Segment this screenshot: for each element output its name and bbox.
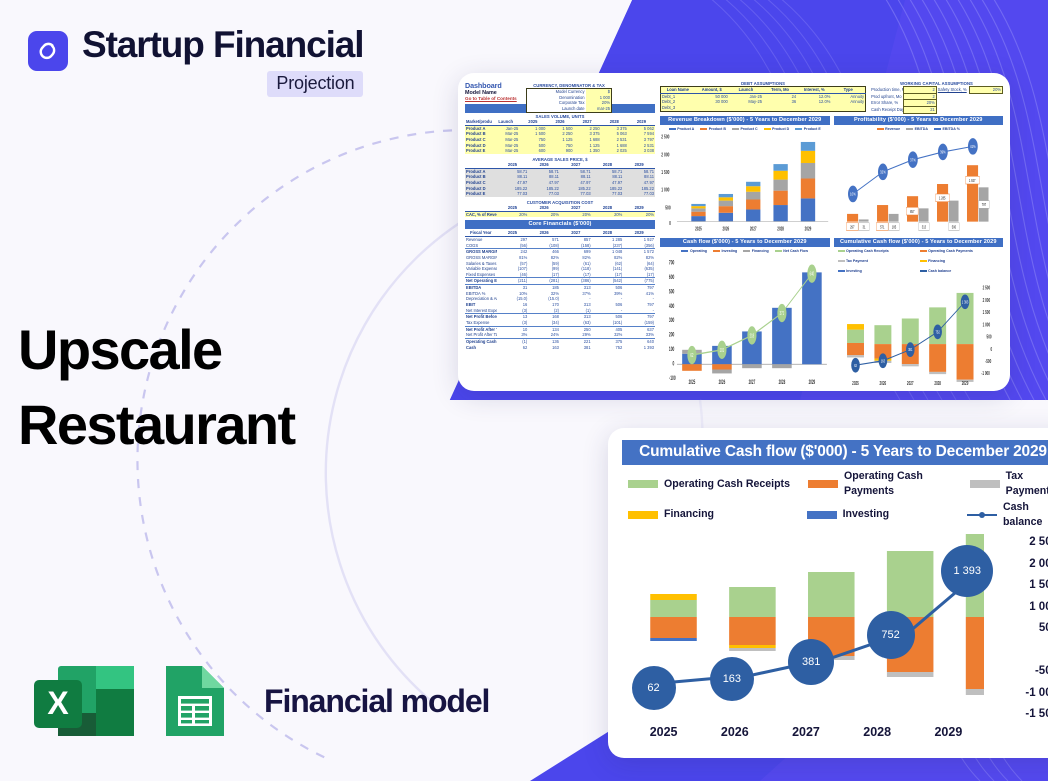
- svg-text:2029: 2029: [809, 379, 816, 385]
- svg-text:2 000: 2 000: [661, 151, 669, 157]
- svg-text:X: X: [47, 685, 69, 721]
- data-point-2027: 381: [788, 639, 834, 685]
- table-row: CAC, % of Revenue20%20%20%20%20%: [465, 211, 655, 217]
- svg-text:0: 0: [990, 346, 992, 352]
- working-capital-table: Production time, Mo 2 Safety Stock, % 20…: [870, 86, 1003, 114]
- cashflow-series-svg: [628, 534, 984, 717]
- x-tick-label: 2029: [913, 725, 984, 739]
- headline-line-2: Restaurant: [18, 387, 295, 462]
- cashflow-y-axis: 2 5002 0001 5001 0005000-500-1 000-1 500: [986, 534, 1048, 717]
- data-point-2028: 752: [867, 611, 915, 659]
- table-row: Prod upfront, Mo 2: [870, 93, 1002, 100]
- currency-assumptions-block: CURRENCY, DENOMINATOR & TAX Model Curren…: [526, 83, 612, 113]
- x-tick-label: 2028: [842, 725, 913, 739]
- format-badges: X Financial model: [30, 660, 489, 742]
- currency-table: Model Currency$ Denomination1 000 Corpor…: [526, 88, 612, 113]
- svg-text:185: 185: [891, 224, 895, 229]
- format-label: Financial model: [264, 683, 489, 720]
- svg-text:571: 571: [880, 224, 884, 229]
- revenue-breakdown-chart[interactable]: Revenue Breakdown ($'000) - 5 Years to D…: [660, 116, 830, 234]
- headline-line-1: Upscale: [18, 312, 295, 387]
- svg-text:-1 000: -1 000: [981, 370, 990, 376]
- svg-text:1 500: 1 500: [982, 309, 990, 315]
- svg-text:600: 600: [669, 274, 675, 282]
- brand-subtitle: Projection: [267, 71, 363, 97]
- svg-text:10%: 10%: [850, 191, 856, 197]
- svg-text:1 393: 1 393: [961, 299, 967, 304]
- svg-text:39%: 39%: [940, 149, 946, 155]
- dashboard-inputs-column: Dashboard Model Name Go to Table of Cont…: [465, 81, 655, 385]
- table-row: Production time, Mo 2 Safety Stock, % 20…: [870, 87, 1002, 94]
- svg-text:218: 218: [750, 332, 755, 338]
- svg-text:62: 62: [854, 363, 857, 368]
- svg-text:200: 200: [669, 331, 675, 339]
- chart-title: Cash flow ($'000) - 5 Years to December …: [660, 238, 830, 247]
- data-point-2025: 62: [632, 666, 676, 710]
- svg-text:297: 297: [850, 224, 854, 229]
- y-tick-label: 1 500: [1029, 579, 1048, 591]
- svg-text:2028: 2028: [934, 380, 941, 385]
- table-row: Cash621633817521 393: [465, 345, 655, 351]
- svg-text:797: 797: [981, 202, 985, 207]
- core-financials-table: Fiscal Year 2025 2026 2027 2028 2029 Rev…: [465, 230, 655, 350]
- col-header: Loan Name: [661, 87, 695, 94]
- col-header: Launch: [729, 87, 763, 94]
- y-tick-label: -1 000: [1025, 687, 1048, 699]
- svg-text:0: 0: [669, 220, 671, 226]
- table-row: Product E77.0377.0377.0377.0377.03: [465, 191, 655, 197]
- page-title: Upscale Restaurant: [18, 312, 295, 462]
- cashflow-chart-title: Cumulative Cash flow ($'000) - 5 Years t…: [622, 440, 1048, 465]
- svg-text:1 927: 1 927: [968, 178, 975, 183]
- y-tick-label: -500: [1035, 665, 1048, 677]
- svg-text:857: 857: [910, 209, 914, 214]
- cashflow-x-axis: 20252026202720282029: [628, 725, 984, 745]
- y-tick-label: 500: [1039, 622, 1048, 634]
- svg-text:163: 163: [880, 358, 884, 363]
- profitability-chart[interactable]: Profitability ($'000) - 5 Years to Decem…: [834, 116, 1004, 234]
- x-tick-label: 2025: [628, 725, 699, 739]
- debt-assumptions-table: Loan Name Amount, $ Launch Term, Mo Inte…: [660, 86, 866, 112]
- cash-flow-chart[interactable]: Cash flow ($'000) - 5 Years to December …: [660, 238, 830, 385]
- svg-text:31: 31: [862, 224, 865, 229]
- svg-text:752: 752: [935, 329, 939, 334]
- chart-title: Revenue Breakdown ($'000) - 5 Years to D…: [660, 116, 830, 125]
- infinity-e-logo-icon: [28, 31, 68, 71]
- svg-text:2 000: 2 000: [982, 297, 990, 303]
- svg-text:2027: 2027: [750, 225, 757, 231]
- svg-text:1 285: 1 285: [938, 196, 945, 201]
- table-row: Error Share, % 20%: [870, 100, 1002, 107]
- legend-financing: Financing: [628, 500, 807, 531]
- table-row: Product EMar-256009001 3502 0253 038: [465, 148, 655, 154]
- table-row: Net Operating Expenses(211)(281)(386)(54…: [465, 278, 655, 285]
- y-tick-label: 1 000: [1029, 601, 1048, 613]
- svg-text:2028: 2028: [779, 379, 786, 385]
- svg-text:62: 62: [690, 352, 693, 358]
- cash-flow-plot: 700600500400 3002001000-100: [660, 254, 830, 385]
- brand-lockup: Startup Financial Projection: [28, 26, 363, 97]
- svg-text:700: 700: [669, 259, 675, 267]
- cashflow-plot-area: 2 5002 0001 5001 0005000-500-1 000-1 500: [622, 534, 1048, 749]
- x-tick-label: 2027: [770, 725, 841, 739]
- svg-text:100: 100: [669, 346, 675, 354]
- table-row: Launch datemar-25: [527, 106, 612, 112]
- revenue-breakdown-plot: 2 5002 0001 500 1 0005000: [660, 132, 830, 234]
- data-point-2026: 163: [710, 657, 754, 701]
- table-row: Cash Receipt Days 21: [870, 106, 1002, 113]
- core-financials-band: Core Financials ($'000): [465, 220, 655, 229]
- svg-text:-100: -100: [669, 375, 676, 383]
- poster-canvas: Startup Financial Projection Upscale Res…: [0, 0, 1048, 781]
- svg-text:32%: 32%: [880, 168, 886, 174]
- average-price-table: 2025 2026 2027 2028 2029 Product A58.715…: [465, 162, 655, 197]
- dashboard-preview-card[interactable]: Dashboard Model Name Go to Table of Cont…: [458, 73, 1010, 391]
- y-tick-label: 2 000: [1029, 558, 1048, 570]
- legend-tax-payment: Tax Payment: [970, 469, 1048, 500]
- svg-text:2028: 2028: [777, 225, 784, 231]
- chart-title: Cumulative Cash flow ($'000) - 5 Years t…: [834, 238, 1004, 247]
- svg-text:0: 0: [673, 360, 675, 368]
- svg-text:2026: 2026: [719, 379, 726, 385]
- svg-text:2 500: 2 500: [982, 284, 990, 290]
- table-row: Debt_3: [661, 105, 866, 111]
- currency-caption: CURRENCY, DENOMINATOR & TAX: [526, 83, 612, 88]
- cumulative-cash-flow-card[interactable]: Cumulative Cash flow ($'000) - 5 Years t…: [608, 428, 1048, 758]
- svg-text:2027: 2027: [749, 379, 756, 385]
- chart-title: Profitability ($'000) - 5 Years to Decem…: [834, 116, 1004, 125]
- svg-text:500: 500: [669, 288, 675, 296]
- svg-text:381: 381: [908, 347, 912, 352]
- legend-operating-cash-payments: Operating Cash Payments: [808, 469, 970, 500]
- svg-text:2026: 2026: [879, 380, 886, 385]
- svg-text:640: 640: [810, 270, 815, 276]
- svg-text:2029: 2029: [961, 380, 968, 385]
- svg-text:506: 506: [951, 224, 955, 229]
- svg-text:371: 371: [780, 310, 785, 316]
- svg-text:400: 400: [669, 302, 675, 310]
- svg-text:500: 500: [986, 333, 991, 339]
- chart-legend: Operating Cash Receipts Operating Cash P…: [834, 248, 1004, 274]
- svg-text:41%: 41%: [969, 143, 975, 149]
- col-header: Term, Mo: [763, 87, 797, 94]
- brand-title: Startup Financial: [82, 26, 363, 65]
- legend-investing: Investing: [807, 500, 967, 531]
- y-tick-label: 2 500: [1029, 536, 1048, 548]
- cashflow-legend: Operating Cash Receipts Operating Cash P…: [622, 465, 1048, 532]
- svg-text:500: 500: [665, 204, 671, 210]
- microsoft-excel-icon: X: [30, 660, 140, 742]
- col-header: Type: [831, 87, 865, 94]
- profitability-plot: 10%32%37% 39%41% 297 31 571 185 857 313: [834, 132, 1004, 234]
- svg-text:2 500: 2 500: [661, 134, 669, 140]
- svg-text:2025: 2025: [695, 225, 702, 231]
- cumulative-cash-flow-chart-mini[interactable]: Cumulative Cash flow ($'000) - 5 Years t…: [834, 238, 1004, 385]
- col-header: Amount, $: [695, 87, 729, 94]
- svg-text:1 000: 1 000: [982, 321, 990, 327]
- svg-text:1 000: 1 000: [661, 187, 669, 193]
- legend-cash-balance: Cash balance: [967, 500, 1048, 531]
- svg-text:313: 313: [921, 224, 925, 229]
- legend-operating-cash-receipts: Operating Cash Receipts: [628, 469, 808, 500]
- cumulative-cash-flow-plot-mini: 2 5002 0001 500 1 0005000 -500-1 000: [834, 274, 1004, 385]
- svg-text:2026: 2026: [723, 225, 730, 231]
- svg-text:2029: 2029: [805, 225, 812, 231]
- svg-text:37%: 37%: [910, 156, 916, 162]
- svg-text:2025: 2025: [852, 380, 859, 385]
- col-header: Market/product: [465, 119, 492, 125]
- x-tick-label: 2026: [699, 725, 770, 739]
- svg-text:101: 101: [720, 346, 725, 352]
- svg-text:1 500: 1 500: [661, 169, 669, 175]
- svg-text:300: 300: [669, 317, 675, 325]
- svg-text:-500: -500: [985, 358, 991, 364]
- col-header: Interest, %: [797, 87, 831, 94]
- google-sheets-icon: [158, 660, 234, 742]
- y-tick-label: -1 500: [1025, 708, 1048, 720]
- table-header-row: Loan Name Amount, $ Launch Term, Mo Inte…: [661, 87, 866, 94]
- svg-text:2025: 2025: [689, 379, 696, 385]
- dashboard-charts-column: DEBT ASSUMPTIONS Loan Name Amount, $ Lau…: [660, 81, 1003, 385]
- sales-volume-table: Market/product Launch 2025 2026 2027 202…: [465, 119, 655, 154]
- cac-table: 2025 2026 2027 2028 2029 CAC, % of Reven…: [465, 205, 655, 217]
- cashflow-bars: 62 163 381 752 1 393: [628, 534, 984, 717]
- svg-text:2027: 2027: [906, 380, 913, 385]
